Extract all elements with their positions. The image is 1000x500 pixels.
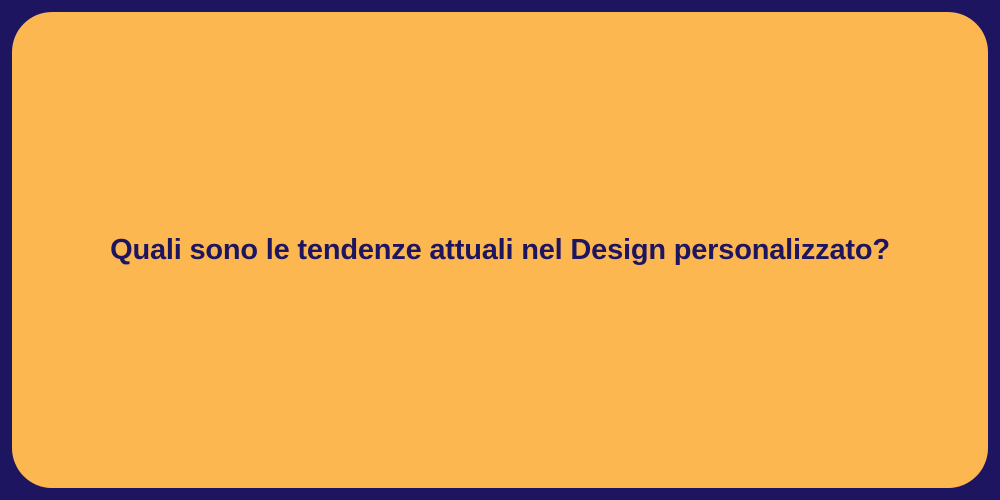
question-card-panel: Quali sono le tendenze attuali nel Desig… bbox=[12, 12, 988, 488]
question-text: Quali sono le tendenze attuali nel Desig… bbox=[70, 232, 930, 268]
question-card-frame: Quali sono le tendenze attuali nel Desig… bbox=[0, 0, 1000, 500]
